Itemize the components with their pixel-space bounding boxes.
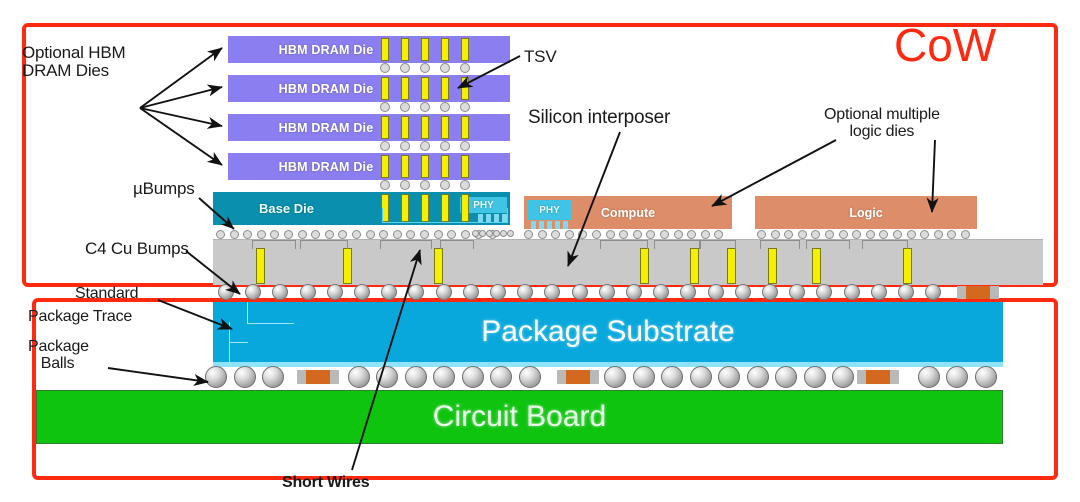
micro-bump: [825, 230, 834, 239]
micro-bump: [486, 230, 493, 237]
package-ball: [348, 366, 370, 388]
callout-tsv: TSV: [524, 48, 556, 66]
c4-bump: [436, 284, 452, 300]
phy-finger: [555, 221, 560, 229]
package-ball: [633, 366, 655, 388]
interposer-tsv: [903, 248, 912, 284]
short-wire: [862, 240, 908, 249]
interposer-tsv: [727, 248, 736, 284]
package-ball: [462, 366, 484, 388]
micro-bump: [440, 63, 450, 73]
micro-bump: [674, 230, 683, 239]
callout-package-balls: Package Balls: [28, 338, 89, 373]
micro-bump: [216, 230, 225, 239]
tsv-pillar: [381, 38, 389, 61]
phy-label: PHY: [539, 205, 560, 216]
package-ball: [405, 366, 427, 388]
logic-die-label: Logic: [849, 206, 882, 220]
micro-bump: [961, 230, 970, 239]
micro-bump: [757, 230, 766, 239]
c4-bump: [898, 284, 914, 300]
micro-bump: [400, 63, 410, 73]
circuit-board-label: Circuit Board: [433, 400, 606, 434]
micro-bump: [434, 230, 443, 239]
micro-bump: [352, 230, 361, 239]
diagram-canvas: CoW oS Optional HBM DRAM Dies µBumps C4 …: [0, 0, 1080, 502]
interposer-tsv: [343, 248, 352, 284]
micro-bump: [606, 230, 615, 239]
tsv-pillar: [381, 116, 389, 139]
base-die-routing: [382, 208, 508, 223]
tsv-pillar: [441, 116, 449, 139]
micro-bump: [460, 180, 470, 190]
micro-bump: [400, 180, 410, 190]
tsv-pillar: [421, 77, 429, 100]
tsv-pillar: [461, 38, 469, 61]
micro-bump: [420, 141, 430, 151]
circuit-board: Circuit Board: [36, 390, 1003, 444]
c4-bump: [844, 284, 860, 300]
tsv-pillar: [461, 116, 469, 139]
micro-bump: [472, 230, 479, 237]
micro-bump: [500, 230, 507, 237]
c4-bump: [490, 284, 506, 300]
micro-bump: [701, 230, 710, 239]
package-ball: [747, 366, 769, 388]
package-passive-component: [557, 370, 599, 384]
interposer-tsv: [256, 248, 265, 284]
package-ball: [376, 366, 398, 388]
package-ball: [661, 366, 683, 388]
hbm-die-label: HBM DRAM Die: [279, 82, 374, 96]
interposer-tsv: [812, 248, 821, 284]
package-trace: [229, 322, 231, 367]
micro-bump: [284, 230, 293, 239]
interposer-passive-component: [957, 286, 999, 299]
micro-bump: [380, 180, 390, 190]
interposer-tsv: [434, 248, 443, 284]
micro-bump: [507, 230, 514, 237]
base-die-label: Base Die: [259, 201, 314, 216]
micro-bump: [257, 230, 266, 239]
micro-bump: [298, 230, 307, 239]
interposer-tsv: [768, 248, 777, 284]
short-wire: [654, 240, 700, 249]
short-wire: [600, 240, 648, 249]
package-ball: [832, 366, 854, 388]
c4-bump: [300, 284, 316, 300]
package-ball: [718, 366, 740, 388]
callout-optional-hbm-dram-dies: Optional HBM DRAM Dies: [22, 44, 125, 81]
tsv-pillar: [401, 116, 409, 139]
micro-bump: [660, 230, 669, 239]
package-substrate-label: Package Substrate: [481, 315, 735, 349]
package-ball: [234, 366, 256, 388]
hbm-die-label: HBM DRAM Die: [279, 121, 374, 135]
micro-bump: [866, 230, 875, 239]
micro-bump: [479, 230, 486, 237]
micro-bump: [460, 102, 470, 112]
package-ball: [918, 366, 940, 388]
package-passive-component: [857, 370, 899, 384]
callout-short-wires: Short Wires: [282, 474, 369, 491]
micro-bump: [460, 141, 470, 151]
interposer-tsv: [640, 248, 649, 284]
c4-bump: [572, 284, 588, 300]
package-passive-component: [297, 370, 339, 384]
c4-bump: [708, 284, 724, 300]
micro-bump: [440, 102, 450, 112]
package-ball: [946, 366, 968, 388]
short-wire: [760, 240, 800, 249]
hbm-die-label: HBM DRAM Die: [279, 160, 374, 174]
package-ball: [604, 366, 626, 388]
micro-bump: [440, 180, 450, 190]
hbm-die-label: HBM DRAM Die: [279, 43, 374, 57]
callout-standard: Standard: [75, 285, 138, 302]
tsv-pillar: [381, 77, 389, 100]
phy-finger: [563, 221, 568, 229]
short-wire: [700, 240, 736, 249]
tsv-pillar: [421, 38, 429, 61]
c4-bump: [735, 284, 751, 300]
c4-bump: [871, 284, 887, 300]
micro-bump: [592, 230, 601, 239]
tsv-pillar: [401, 77, 409, 100]
micro-bump: [771, 230, 780, 239]
short-wire: [300, 240, 348, 249]
micro-bump: [420, 230, 429, 239]
cow-label: CoW: [894, 22, 996, 68]
package-ball: [690, 366, 712, 388]
c4-bump: [463, 284, 479, 300]
callout-package-trace: Package Trace: [28, 308, 132, 325]
package-ball: [205, 366, 227, 388]
micro-bump: [420, 102, 430, 112]
interposer-tsv: [690, 248, 699, 284]
tsv-pillar: [461, 155, 469, 178]
micro-bump: [798, 230, 807, 239]
short-wire: [440, 240, 474, 249]
phy-finger: [539, 221, 544, 229]
tsv-pillar: [401, 38, 409, 61]
micro-bump: [893, 230, 902, 239]
callout-silicon-interposer: Silicon interposer: [528, 108, 670, 129]
package-substrate: Package Substrate: [213, 302, 1003, 362]
short-wire: [806, 240, 850, 249]
micro-bump: [393, 230, 402, 239]
tsv-pillar: [401, 155, 409, 178]
micro-bump: [565, 230, 574, 239]
micro-bump: [839, 230, 848, 239]
compute-die-label: Compute: [601, 206, 655, 220]
package-ball: [519, 366, 541, 388]
micro-bump: [230, 230, 239, 239]
package-ball: [775, 366, 797, 388]
tsv-pillar: [421, 116, 429, 139]
short-wire: [252, 240, 296, 249]
micro-bump: [907, 230, 916, 239]
callout-ubumps: µBumps: [133, 180, 195, 198]
tsv-pillar: [441, 77, 449, 100]
package-ball: [490, 366, 512, 388]
tsv-pillar: [441, 38, 449, 61]
micro-bump: [493, 230, 500, 237]
micro-bump: [934, 230, 943, 239]
micro-bump: [461, 230, 470, 239]
compute-die-phy-block: PHY: [528, 200, 571, 220]
micro-bump: [400, 102, 410, 112]
c4-bump: [327, 284, 343, 300]
package-ball: [262, 366, 284, 388]
callout-c4-cu-bumps: C4 Cu Bumps: [85, 240, 189, 258]
c4-bump: [218, 284, 234, 300]
micro-bump: [460, 63, 470, 73]
micro-bump: [400, 141, 410, 151]
micro-bump: [420, 180, 430, 190]
tsv-pillar: [381, 155, 389, 178]
c4-bump: [599, 284, 615, 300]
package-ball: [975, 366, 997, 388]
tsv-pillar: [421, 155, 429, 178]
micro-bump: [420, 63, 430, 73]
package-ball: [433, 366, 455, 388]
c4-bump: [762, 284, 778, 300]
tsv-pillar: [441, 155, 449, 178]
package-trace: [247, 302, 294, 324]
logic-die: Logic: [755, 196, 977, 229]
micro-bump: [366, 230, 375, 239]
package-ball: [804, 366, 826, 388]
micro-bump: [538, 230, 547, 239]
micro-bump: [440, 141, 450, 151]
micro-bump: [325, 230, 334, 239]
callout-optional-multiple-logic-dies: Optional multiple logic dies: [824, 106, 940, 141]
tsv-pillar: [461, 77, 469, 100]
micro-bump: [633, 230, 642, 239]
micro-bump: [380, 63, 390, 73]
package-trace: [230, 323, 248, 343]
c4-bump: [626, 284, 642, 300]
phy-finger: [547, 221, 552, 229]
phy-finger: [531, 221, 536, 229]
micro-bump: [380, 102, 390, 112]
short-wire: [380, 240, 432, 249]
package-substrate-bottom-cap: [213, 362, 1003, 367]
micro-bump: [524, 230, 533, 239]
micro-bump: [380, 141, 390, 151]
c4-bump: [354, 284, 370, 300]
